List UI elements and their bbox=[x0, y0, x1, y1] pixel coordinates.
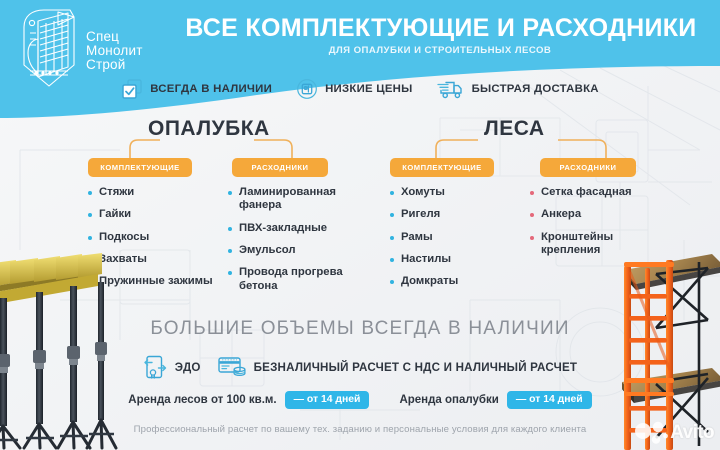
rent-row: Аренда лесов от 100 кв.м. — от 14 дней А… bbox=[0, 391, 720, 409]
edo-document-exchange-icon bbox=[143, 354, 168, 380]
avito-dots-icon bbox=[634, 420, 668, 446]
rent-formwork: Аренда опалубки — от 14 дней bbox=[399, 391, 591, 409]
feature-label: ВСЕГДА В НАЛИЧИИ bbox=[150, 83, 272, 95]
footer-note: Профессиональный расчет по вашему тех. з… bbox=[0, 424, 720, 435]
payment-label: БЕЗНАЛИЧНЫЙ РАСЧЕТ С НДС И НАЛИЧНЫЙ РАСЧ… bbox=[254, 361, 578, 374]
header-banner: Спец Монолит Строй ВСЕ КОМПЛЕКТУЮЩИЕ И Р… bbox=[0, 0, 720, 118]
orange-scaffolding-tower-photo bbox=[596, 232, 720, 450]
promo-banner: Спец Монолит Строй ВСЕ КОМПЛЕКТУЮЩИЕ И Р… bbox=[0, 0, 720, 450]
feature-low-prices: НИЗКИЕ ЦЕНЫ bbox=[296, 78, 413, 100]
list-item: ПВХ-закладные bbox=[228, 222, 360, 235]
feature-label: БЫСТРАЯ ДОСТАВКА bbox=[472, 83, 599, 95]
pill-scaffolding-components[interactable]: КОМПЛЕКТУЮЩИЕ bbox=[390, 158, 494, 177]
payment-row: ЭДО БЕЗНАЛИЧНЫЙ РАСЧЕТ С НДС И НАЛИЧНЫЙ … bbox=[0, 354, 720, 380]
list-item: Сетка фасадная bbox=[530, 186, 656, 199]
payment-edo: ЭДО bbox=[143, 354, 201, 380]
pill-scaffolding-consumables[interactable]: РАСХОДНИКИ bbox=[540, 158, 636, 177]
yellow-formwork-props-photo bbox=[0, 236, 144, 450]
list-item: Провода прогрева бетона bbox=[228, 266, 360, 293]
avito-wordmark: Avito bbox=[670, 422, 714, 444]
low-price-coin-icon bbox=[296, 78, 318, 100]
list-item: Гайки bbox=[88, 208, 216, 221]
rent-term-chip[interactable]: — от 14 дней bbox=[285, 391, 370, 409]
feature-label: НИЗКИЕ ЦЕНЫ bbox=[325, 83, 413, 95]
checkbox-stack-icon bbox=[121, 78, 143, 100]
list-formwork-consumables: Ламинированная фанера ПВХ-закладные Эмул… bbox=[228, 186, 360, 302]
rent-scaffolding: Аренда лесов от 100 кв.м. — от 14 дней bbox=[128, 391, 369, 409]
list-item: Ламинированная фанера bbox=[228, 186, 360, 213]
pill-formwork-consumables[interactable]: РАСХОДНИКИ bbox=[232, 158, 328, 177]
list-item: Стяжи bbox=[88, 186, 216, 199]
payment-label: ЭДО bbox=[175, 361, 201, 374]
list-item: Домкраты bbox=[390, 275, 510, 288]
feature-fast-delivery: БЫСТРАЯ ДОСТАВКА bbox=[437, 78, 599, 100]
page-subtitle: ДЛЯ ОПАЛУБКИ И СТРОИТЕЛЬНЫХ ЛЕСОВ bbox=[0, 45, 708, 56]
list-item: Ригеля bbox=[390, 208, 510, 221]
logo-line-3: Строй bbox=[86, 58, 143, 72]
card-and-coins-icon bbox=[217, 354, 247, 380]
payment-cashless: БЕЗНАЛИЧНЫЙ РАСЧЕТ С НДС И НАЛИЧНЫЙ РАСЧ… bbox=[217, 354, 578, 380]
list-item: Анкера bbox=[530, 208, 656, 221]
volumes-headline: БОЛЬШИЕ ОБЪЕМЫ ВСЕГДА В НАЛИЧИИ bbox=[0, 318, 720, 340]
page-title: ВСЕ КОМПЛЕКТУЮЩИЕ И РАСХОДНИКИ bbox=[0, 14, 712, 43]
list-item: Эмульсол bbox=[228, 244, 360, 257]
list-scaffolding-components: Хомуты Ригеля Рамы Настилы Домкраты bbox=[390, 186, 510, 298]
feature-list: ВСЕГДА В НАЛИЧИИ НИЗКИЕ ЦЕНЫ БЫСТРАЯ ДОС… bbox=[0, 78, 720, 100]
avito-watermark: Avito bbox=[634, 420, 714, 446]
list-item: Хомуты bbox=[390, 186, 510, 199]
rent-term-chip[interactable]: — от 14 дней bbox=[507, 391, 592, 409]
delivery-truck-icon bbox=[437, 78, 465, 100]
rent-label: Аренда опалубки bbox=[399, 394, 498, 406]
rent-label: Аренда лесов от 100 кв.м. bbox=[128, 394, 276, 406]
pill-formwork-components[interactable]: КОМПЛЕКТУЮЩИЕ bbox=[88, 158, 192, 177]
feature-in-stock: ВСЕГДА В НАЛИЧИИ bbox=[121, 78, 272, 100]
list-item: Настилы bbox=[390, 253, 510, 266]
list-item: Рамы bbox=[390, 231, 510, 244]
